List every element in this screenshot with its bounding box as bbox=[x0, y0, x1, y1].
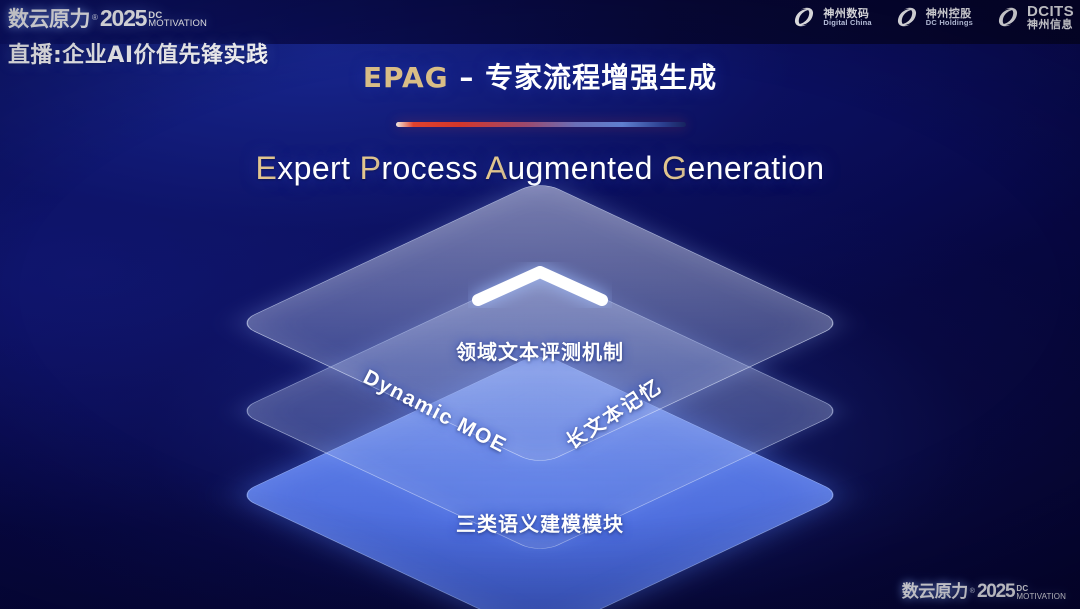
watermark-registered-mark: ® bbox=[970, 588, 975, 595]
chevron-up-icon bbox=[468, 262, 612, 308]
swirl-logo-icon bbox=[894, 6, 920, 28]
page-title-acronym: EPAG bbox=[363, 61, 449, 94]
slide-canvas: 数云原力 ® 2025 DC MOTIVATION 直播:企业AI价值先锋实践 … bbox=[0, 0, 1080, 609]
page-title-chinese: 专家流程增强生成 bbox=[485, 61, 717, 94]
brand-logo: 数云原力 ® 2025 DC MOTIVATION bbox=[8, 4, 338, 30]
layer-stack-diagram: 领域文本评测机制 Dynamic MOE 长文本记忆 三类语义建模模块 bbox=[258, 218, 822, 578]
page-title: EPAG – 专家流程增强生成 bbox=[0, 56, 1080, 96]
partner-logo-digital-china: 神州数码 Digital China bbox=[791, 6, 871, 28]
watermark-motivation-text: MOTIVATION bbox=[1016, 593, 1066, 600]
partner-en-name: Digital China bbox=[823, 19, 871, 27]
layer-label-bottom: 三类语义建模模块 bbox=[456, 508, 624, 537]
layer-plate-top bbox=[325, 108, 755, 538]
partner-logo-dc-holdings: 神州控股 DC Holdings bbox=[894, 6, 973, 28]
swirl-logo-icon bbox=[791, 6, 817, 28]
watermark-year: 2025 bbox=[977, 582, 1014, 601]
brand-motivation-text: MOTIVATION bbox=[148, 20, 207, 29]
brand-logo-dc-motivation: DC MOTIVATION bbox=[148, 12, 207, 29]
footer-watermark-logo: 数云原力 ® 2025 DC MOTIVATION bbox=[902, 582, 1066, 601]
swirl-logo-icon bbox=[995, 6, 1021, 28]
partner-logo-dcits: DCITS 神州信息 bbox=[995, 4, 1074, 31]
brand-logo-year: 2025 bbox=[100, 7, 146, 30]
partner-text-dcits: DCITS 神州信息 bbox=[1027, 4, 1074, 31]
brand-registered-mark: ® bbox=[92, 14, 98, 22]
partner-logo-group: 神州数码 Digital China 神州控股 DC Holdings DCIT… bbox=[791, 4, 1074, 31]
partner-text-digital-china: 神州数码 Digital China bbox=[823, 8, 871, 27]
subtitle-initial-e: E bbox=[255, 150, 277, 186]
partner-en-name: DC Holdings bbox=[926, 19, 973, 27]
partner-en-name: DCITS bbox=[1027, 4, 1074, 19]
layer-label-top: 领域文本评测机制 bbox=[456, 336, 624, 365]
watermark-dc-motivation: DC MOTIVATION bbox=[1016, 585, 1066, 600]
partner-text-dc-holdings: 神州控股 DC Holdings bbox=[926, 8, 973, 27]
watermark-cn: 数云原力 bbox=[902, 584, 968, 601]
brand-logo-cn: 数云原力 bbox=[8, 9, 90, 30]
partner-cn-name: 神州信息 bbox=[1027, 19, 1074, 31]
page-title-separator: – bbox=[449, 61, 486, 94]
